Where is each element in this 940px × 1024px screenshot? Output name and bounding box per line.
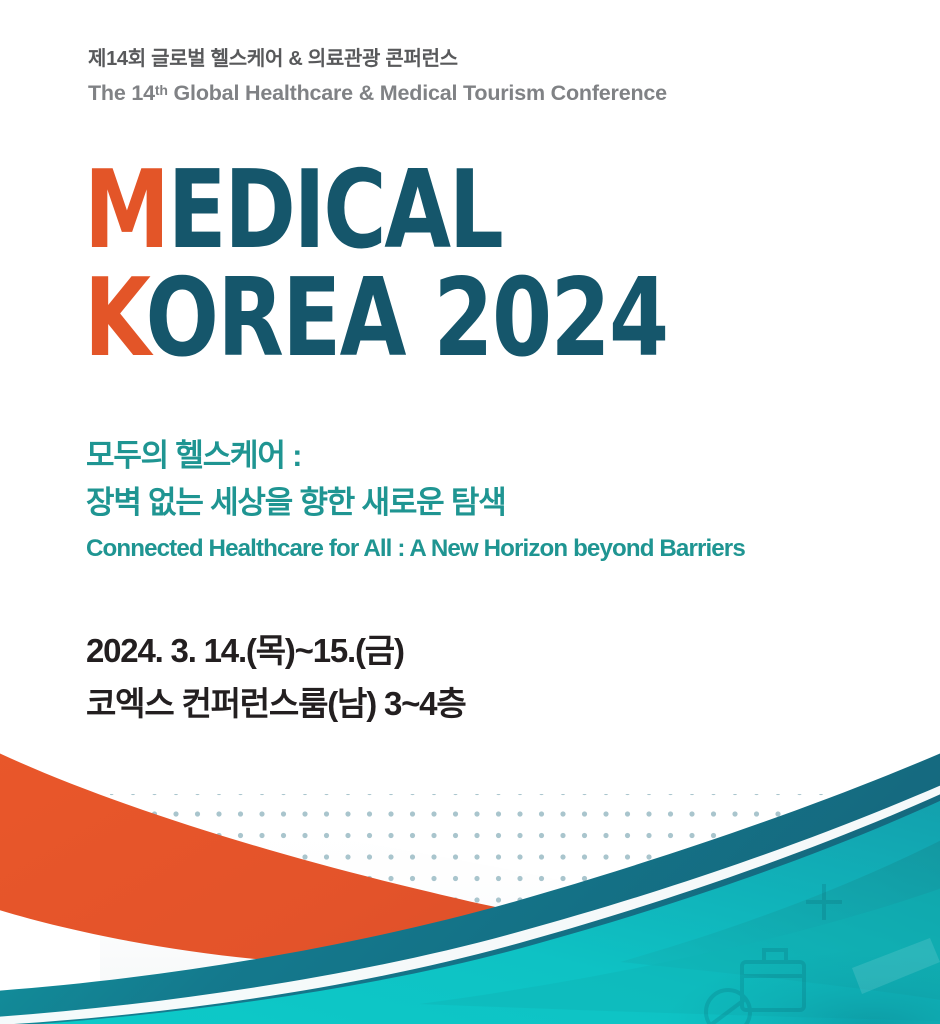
logotype-accent-m: M bbox=[84, 148, 168, 273]
event-date: 2024. 3. 14.(목)~15.(금) bbox=[86, 624, 786, 677]
eyebrow-english-prefix: The 14 bbox=[88, 81, 155, 105]
decorative-artwork-svg bbox=[0, 724, 940, 1024]
logotype-rest-orea-2024: OREA 2024 bbox=[145, 256, 667, 381]
slogan-korean-line-1: 모두의 헬스케어 : bbox=[86, 432, 906, 479]
slogan-english: Connected Healthcare for All : A New Hor… bbox=[86, 534, 894, 563]
eyebrow-english-title: The 14th Global Healthcare & Medical Tou… bbox=[88, 77, 848, 109]
decorative-artwork bbox=[0, 724, 940, 1024]
conference-poster: 제14회 글로벌 헬스케어 & 의료관광 콘퍼런스 The 14th Globa… bbox=[0, 0, 940, 1024]
eyebrow-korean-title: 제14회 글로벌 헬스케어 & 의료관광 콘퍼런스 bbox=[88, 46, 848, 73]
poster-eyebrow: 제14회 글로벌 헬스케어 & 의료관광 콘퍼런스 The 14th Globa… bbox=[88, 46, 848, 109]
eyebrow-english-suffix: Global Healthcare & Medical Tourism Conf… bbox=[168, 81, 667, 105]
logotype-line-medical: MEDICAL bbox=[84, 160, 724, 262]
event-logotype: MEDICAL KOREA 2024 bbox=[84, 160, 884, 369]
logotype-rest-edical: EDICAL bbox=[168, 148, 502, 273]
eyebrow-english-ordinal: th bbox=[155, 82, 168, 98]
logotype-accent-k: K bbox=[84, 256, 145, 381]
poster-details: 2024. 3. 14.(목)~15.(금) 코엑스 컨퍼런스룸(남) 3~4층 bbox=[86, 624, 786, 731]
poster-slogan: 모두의 헬스케어 : 장벽 없는 세상을 향한 새로운 탐색 Connected… bbox=[86, 432, 906, 564]
event-venue: 코엑스 컨퍼런스룸(남) 3~4층 bbox=[86, 677, 786, 730]
logotype-line-korea: KOREA 2024 bbox=[84, 268, 724, 370]
slogan-korean-line-2: 장벽 없는 세상을 향한 새로운 탐색 bbox=[86, 479, 906, 526]
